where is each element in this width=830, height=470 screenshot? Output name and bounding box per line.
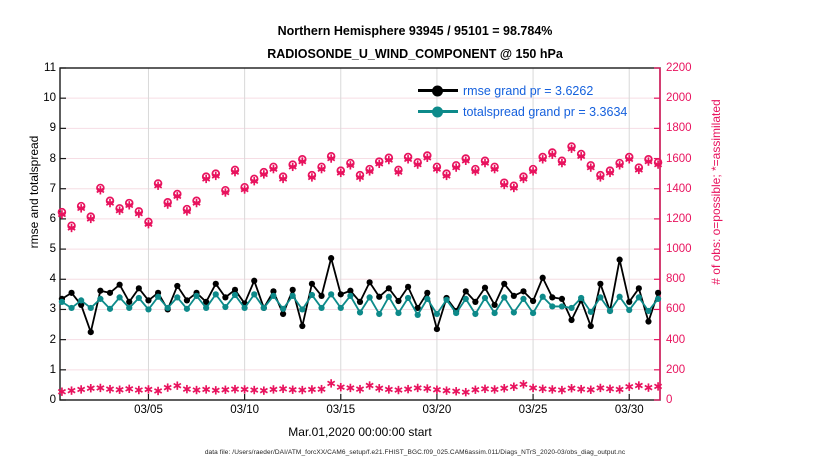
legend-item-rmse[interactable]: rmse grand pr = 3.6262 [418, 80, 627, 101]
y-tick-left-1: 1 [10, 364, 56, 376]
y-tick-right-1800: 1800 [666, 122, 714, 134]
data-file-footer: data file: /Users/raeder/DAI/ATM_forcXX/… [0, 449, 830, 456]
x-tick-03-05: 03/05 [113, 404, 183, 416]
y-tick-right-2200: 2200 [666, 62, 714, 74]
x-tick-03-15: 03/15 [306, 404, 376, 416]
y-tick-right-1000: 1000 [666, 243, 714, 255]
y-tick-right-2000: 2000 [666, 92, 714, 104]
y-tick-left-0: 0 [10, 394, 56, 406]
y-axis-right-label: # of obs: o=possible; *=assimilated [709, 92, 723, 292]
y-tick-left-3: 3 [10, 303, 56, 315]
y-tick-right-600: 600 [666, 303, 714, 315]
legend-label-totalspread: totalspread grand pr = 3.3634 [463, 105, 627, 119]
y-axis-left-label: rmse and totalspread [27, 92, 41, 292]
legend-item-totalspread[interactable]: totalspread grand pr = 3.3634 [418, 101, 627, 122]
y-tick-right-1400: 1400 [666, 183, 714, 195]
legend-label-rmse: rmse grand pr = 3.6262 [463, 84, 593, 98]
x-axis-label: Mar.01,2020 00:00:00 start [60, 425, 660, 439]
x-tick-03-20: 03/20 [402, 404, 472, 416]
y-tick-left-2: 2 [10, 334, 56, 346]
y-tick-right-0: 0 [666, 394, 714, 406]
chart-figure: Northern Hemisphere 93945 / 95101 = 98.7… [0, 0, 830, 470]
y-tick-right-800: 800 [666, 273, 714, 285]
x-tick-03-25: 03/25 [498, 404, 568, 416]
y-tick-right-1200: 1200 [666, 213, 714, 225]
y-tick-left-11: 11 [10, 62, 56, 74]
x-tick-03-10: 03/10 [210, 404, 280, 416]
x-tick-03-30: 03/30 [594, 404, 664, 416]
y-tick-right-1600: 1600 [666, 153, 714, 165]
legend-swatch-totalspread [418, 110, 458, 113]
y-tick-right-400: 400 [666, 334, 714, 346]
legend-swatch-rmse [418, 89, 458, 92]
y-tick-right-200: 200 [666, 364, 714, 376]
chart-legend: rmse grand pr = 3.6262 totalspread grand… [418, 80, 627, 122]
